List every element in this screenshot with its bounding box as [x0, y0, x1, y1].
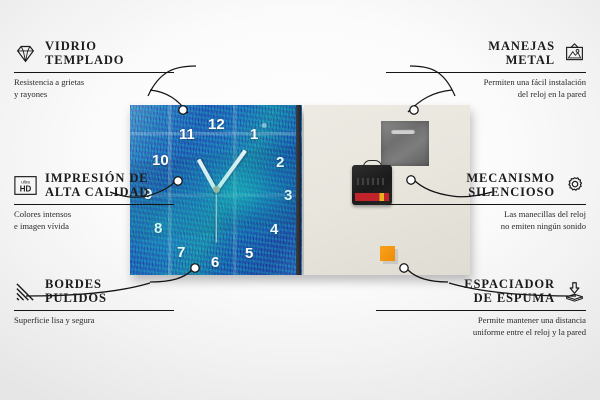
diamond-icon — [14, 43, 37, 64]
clock-second-hand — [215, 191, 216, 243]
svg-text:HD: HD — [20, 185, 32, 194]
clock-numeral-7: 7 — [177, 245, 185, 260]
hanger-keyhole-slot — [391, 129, 415, 134]
feature-title-line-1: ESPACIADOR — [464, 278, 555, 292]
feature-divider — [386, 72, 586, 73]
feature-manejas-metal: MANEJAS METAL Permiten una fácil instala… — [386, 40, 586, 101]
feature-header: VIDRIO TEMPLADO — [14, 40, 194, 67]
feature-bordes-pulidos: BORDES PULIDOS Superficie lisa y segura — [14, 278, 204, 327]
feature-desc-line-1: Resistencia a grietas — [14, 77, 194, 89]
feature-title-line-1: MECANISMO — [466, 172, 555, 186]
foam-spacer — [380, 246, 395, 261]
feature-title-line-1: MANEJAS — [488, 40, 555, 54]
clock-center-pivot — [213, 186, 220, 193]
feature-title-line-2: ALTA CALIDAD — [45, 186, 149, 200]
feature-desc-line-2: uniforme entre el reloj y la pared — [376, 327, 586, 339]
feature-title-line-2: METAL — [488, 54, 555, 68]
feature-desc-line-1: Superficie lisa y segura — [14, 315, 204, 327]
feature-divider — [14, 72, 174, 73]
clock-numeral-2: 2 — [276, 155, 284, 170]
feature-title: MANEJAS METAL — [488, 40, 555, 67]
feature-header: BORDES PULIDOS — [14, 278, 204, 305]
feature-title: VIDRIO TEMPLADO — [45, 40, 124, 67]
feature-desc-line-1: Las manecillas del reloj — [386, 209, 586, 221]
movement-detail — [357, 178, 387, 185]
feature-title: MECANISMO SILENCIOSO — [466, 172, 555, 199]
hanging-frame-icon — [563, 43, 586, 64]
feature-header: MANEJAS METAL — [386, 40, 586, 67]
ultra-hd-icon: ultra HD — [14, 175, 37, 196]
clock-numeral-11: 11 — [179, 127, 195, 142]
feature-divider — [386, 204, 586, 205]
movement-battery-label — [355, 193, 389, 201]
feature-title: BORDES PULIDOS — [45, 278, 107, 305]
gear-icon — [563, 175, 586, 196]
glass-edge — [296, 105, 301, 275]
clock-numeral-4: 4 — [270, 222, 278, 237]
feature-title-line-2: TEMPLADO — [45, 54, 124, 68]
clock-numeral-5: 5 — [245, 246, 253, 261]
press-down-icon — [563, 281, 586, 302]
feature-title-line-2: PULIDOS — [45, 292, 107, 306]
feature-desc-line-2: y rayones — [14, 89, 194, 101]
feature-header: ESPACIADOR DE ESPUMA — [376, 278, 586, 305]
feature-divider — [14, 310, 174, 311]
feature-desc-line-2: no emiten ningún sonido — [386, 221, 586, 233]
feature-header: ultra HD IMPRESIÓN DE ALTA CALIDAD — [14, 172, 204, 199]
clock-numeral-12: 12 — [208, 117, 225, 132]
feature-title-line-2: DE ESPUMA — [464, 292, 555, 306]
feature-impresion-alta-calidad: ultra HD IMPRESIÓN DE ALTA CALIDAD Color… — [14, 172, 204, 233]
clock-numeral-1: 1 — [250, 127, 258, 142]
feature-header: MECANISMO SILENCIOSO — [386, 172, 586, 199]
feature-title-line-1: VIDRIO — [45, 40, 124, 54]
feature-divider — [376, 310, 586, 311]
metal-hanger-plate — [381, 121, 429, 166]
clock-numeral-10: 10 — [152, 153, 169, 168]
feature-title-line-2: SILENCIOSO — [466, 186, 555, 200]
clock-numeral-6: 6 — [211, 255, 219, 270]
feature-desc-line-1: Colores intensos — [14, 209, 204, 221]
diagonal-stripes-icon — [14, 281, 37, 302]
clock-minute-hand — [214, 149, 247, 192]
infographic-canvas: 12 1 2 3 4 5 6 7 8 9 10 11 — [0, 0, 600, 400]
feature-title-line-1: BORDES — [45, 278, 107, 292]
feature-desc-line-1: Permite mantener una distancia — [376, 315, 586, 327]
feature-divider — [14, 204, 174, 205]
feature-vidrio-templado: VIDRIO TEMPLADO Resistencia a grietas y … — [14, 40, 194, 101]
feature-espaciador-espuma: ESPACIADOR DE ESPUMA Permite mantener un… — [376, 278, 586, 339]
movement-bail — [363, 160, 382, 169]
feature-mecanismo-silencioso: MECANISMO SILENCIOSO Las manecillas del … — [386, 172, 586, 233]
clock-numeral-3: 3 — [284, 188, 292, 203]
feature-desc-line-2: del reloj en la pared — [386, 89, 586, 101]
feature-desc-line-1: Permiten una fácil instalación — [386, 77, 586, 89]
feature-title: ESPACIADOR DE ESPUMA — [464, 278, 555, 305]
feature-desc-line-2: e imagen vívida — [14, 221, 204, 233]
feature-title: IMPRESIÓN DE ALTA CALIDAD — [45, 172, 149, 199]
feature-title-line-1: IMPRESIÓN DE — [45, 172, 149, 186]
